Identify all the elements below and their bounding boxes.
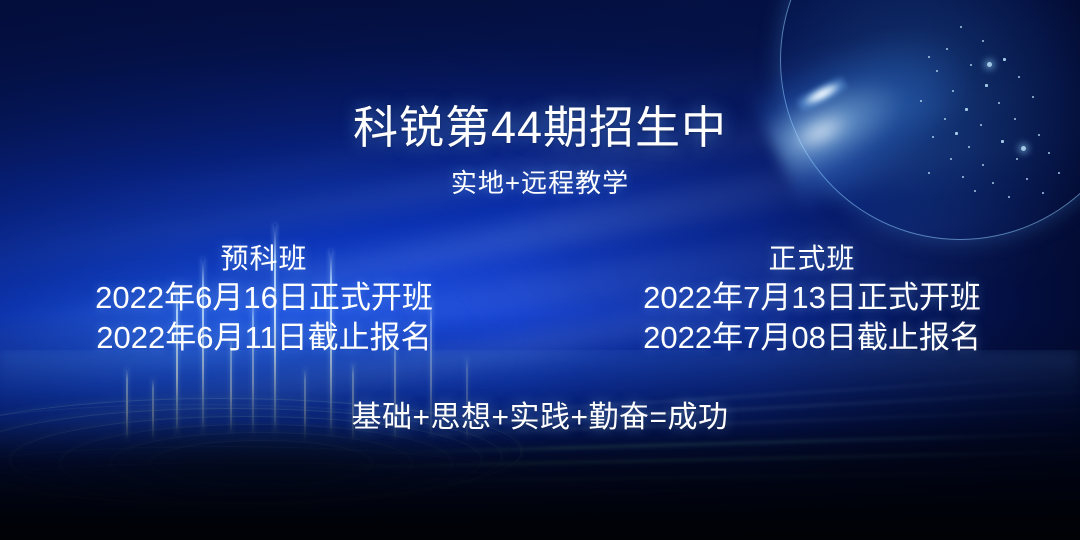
class-column-heading: 正式班 — [542, 242, 1080, 276]
class-deadline-date: 2022年6月11日截止报名 — [0, 319, 534, 357]
class-columns: 预科班 2022年6月16日正式开班 2022年6月11日截止报名 正式班 20… — [0, 242, 1080, 357]
class-deadline-date: 2022年7月08日截止报名 — [542, 319, 1080, 357]
class-start-date: 2022年7月13日正式开班 — [542, 279, 1080, 317]
class-start-date: 2022年6月16日正式开班 — [0, 279, 534, 317]
page-subtitle: 实地+远程教学 — [0, 168, 1080, 199]
class-column-heading: 预科班 — [0, 242, 534, 276]
class-column-prep: 预科班 2022年6月16日正式开班 2022年6月11日截止报名 — [0, 242, 534, 357]
page-title: 科锐第44期招生中 — [0, 104, 1080, 153]
poster-content: 科锐第44期招生中 实地+远程教学 预科班 2022年6月16日正式开班 202… — [0, 0, 1080, 540]
page-tagline: 基础+思想+实践+勤奋=成功 — [0, 392, 1080, 436]
class-column-formal: 正式班 2022年7月13日正式开班 2022年7月08日截止报名 — [542, 242, 1080, 357]
poster-canvas: 科锐第44期招生中 实地+远程教学 预科班 2022年6月16日正式开班 202… — [0, 0, 1080, 540]
